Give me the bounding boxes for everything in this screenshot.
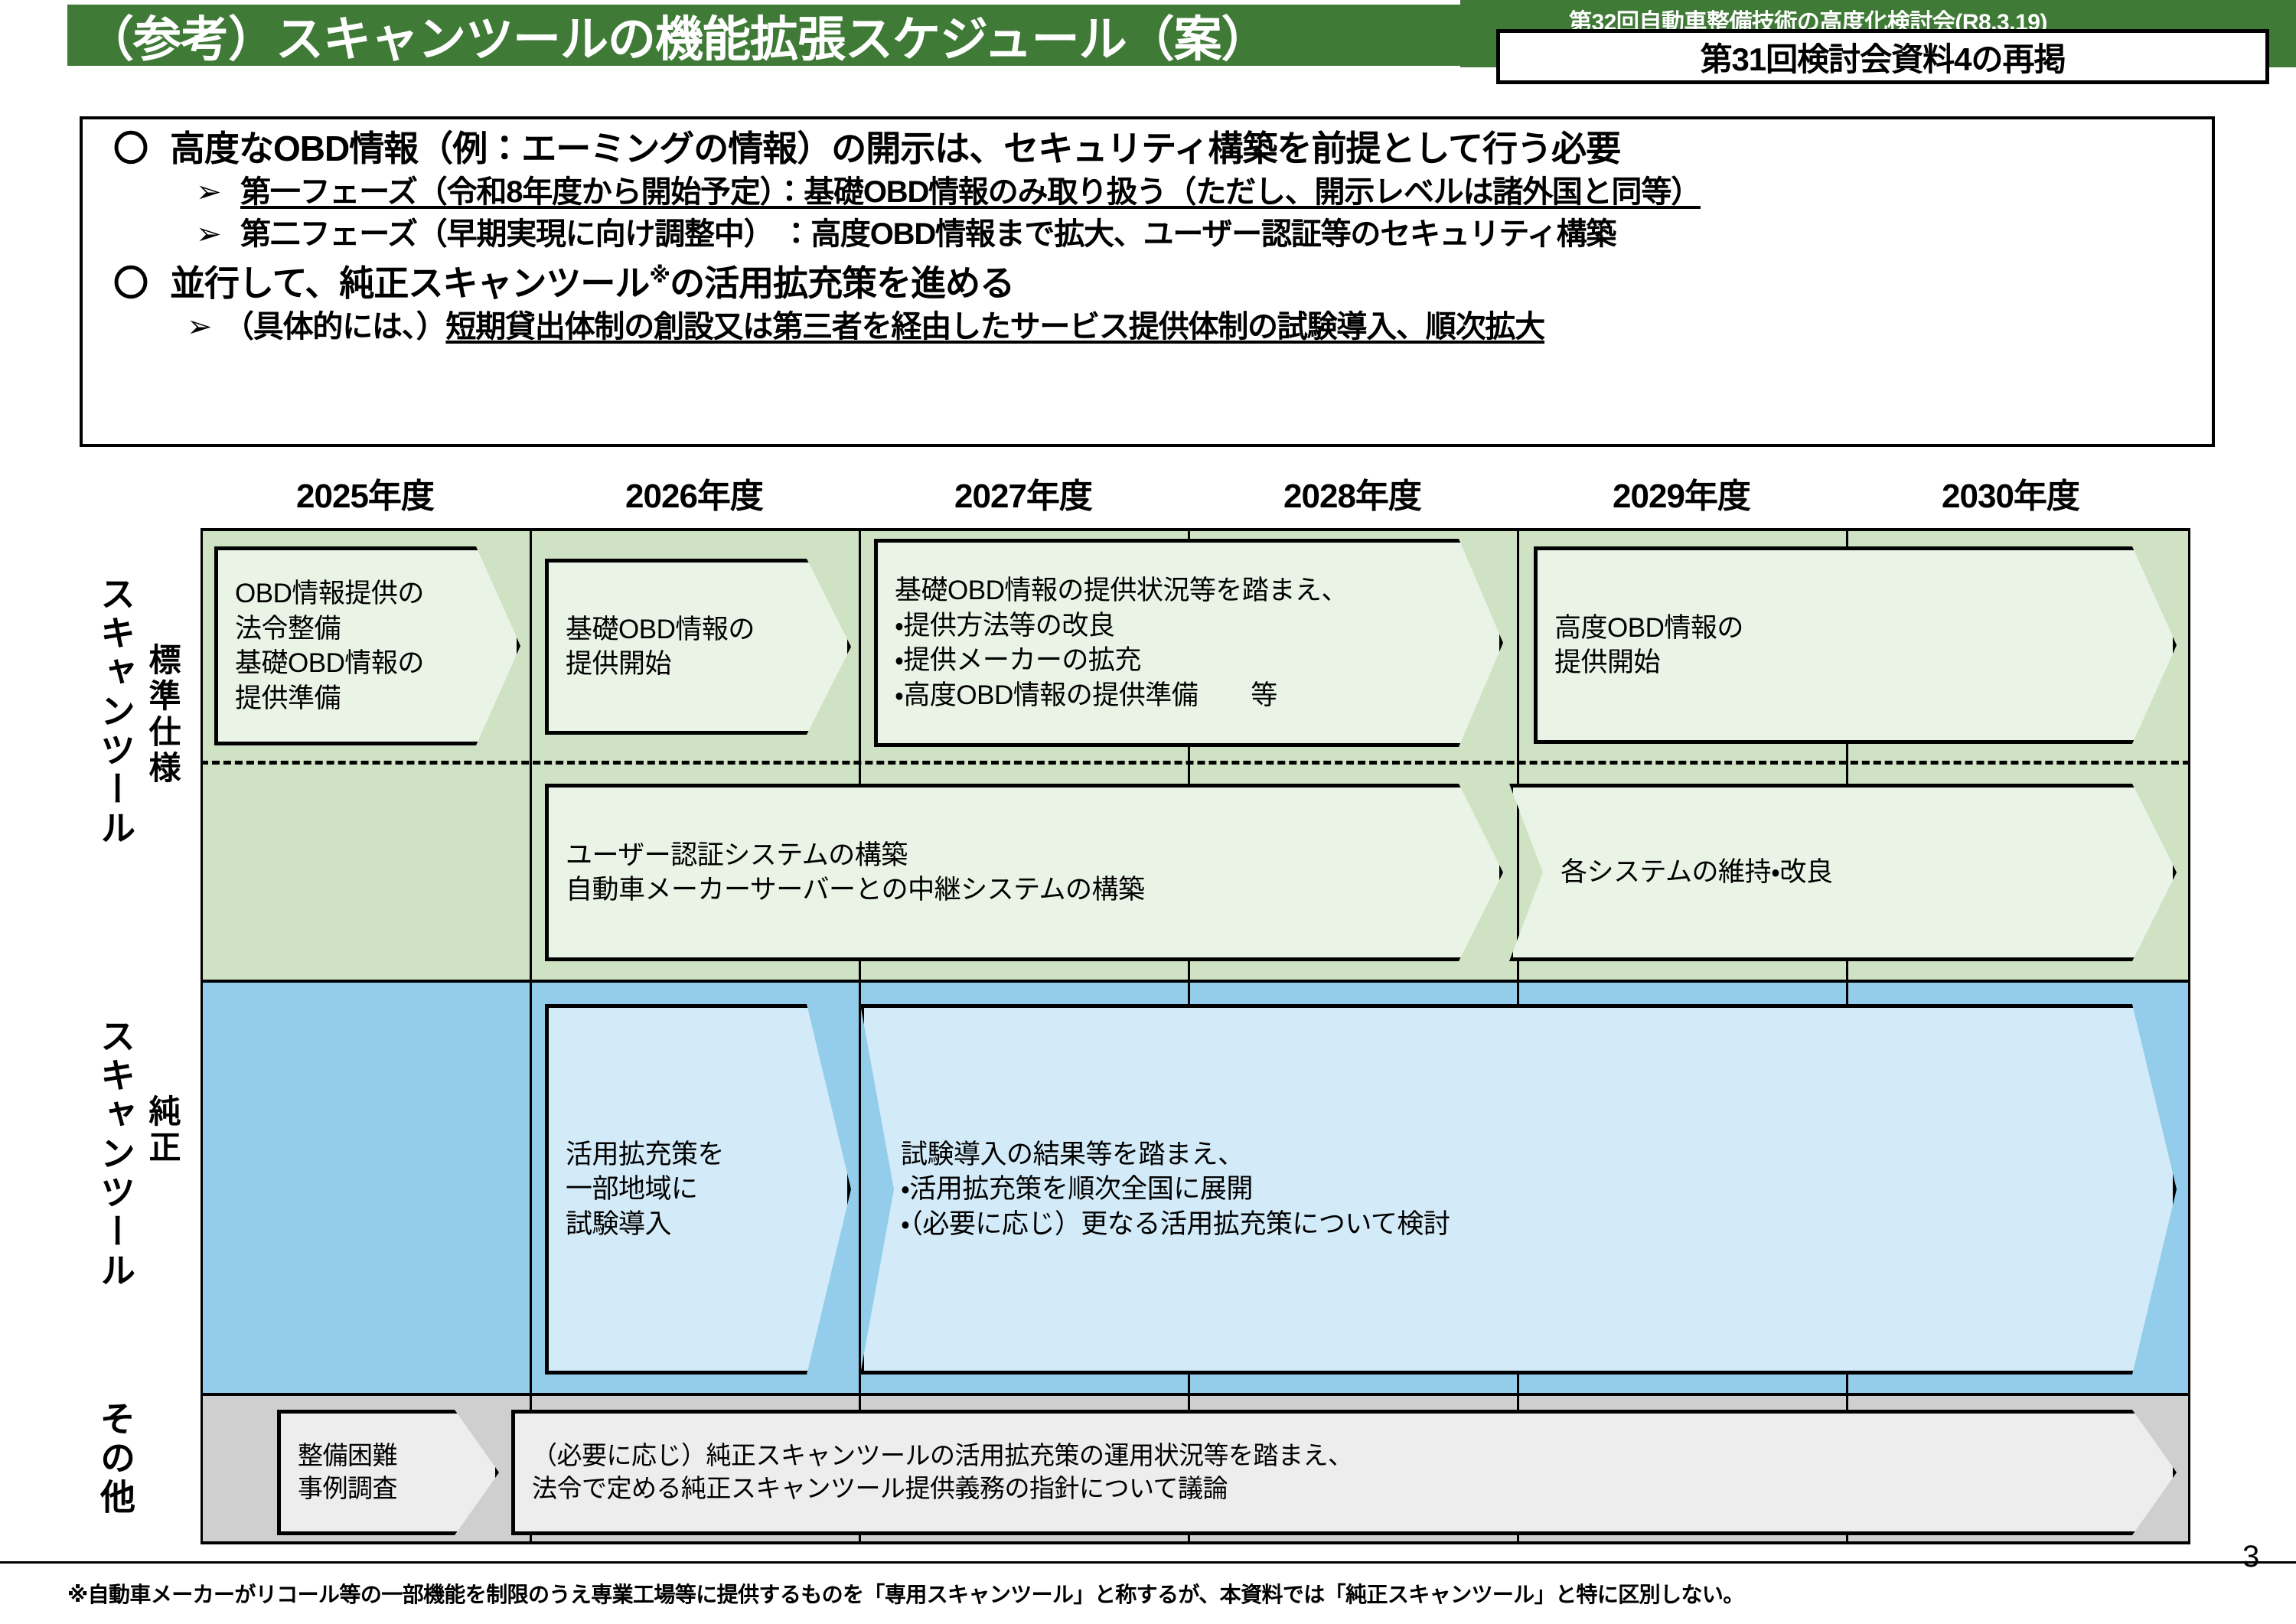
bullet-item-5: ➢ （具体的には、）短期貸出体制の創設又は第三者を経由したサービス提供体制の試験… (83, 308, 2212, 346)
reprint-badge-label: 第31回検討会資料4の再掲 (1700, 34, 2065, 80)
timeline-item-basic-obd-start[interactable]: 基礎OBD情報の 提供開始 (545, 559, 851, 735)
slide-title-bar: （参考）スキャンツールの機能拡張スケジュール（案） (67, 5, 1460, 66)
year-label-2027: 2027年度 (859, 468, 1188, 517)
bullet-marker-circle: 〇 (113, 129, 170, 169)
bullet-text-4-sup: ※ (649, 263, 670, 289)
timeline-item-label: 試験導入の結果等を踏まえ、 ・活用拡充策を順次全国に展開 ・（必要に応じ）更なる… (864, 1137, 1450, 1242)
grid-divider-2027 (859, 528, 861, 1544)
bullet-marker-arrow: ➢ (187, 308, 223, 346)
timeline-item-label: 活用拡充策を 一部地域に 試験導入 (549, 1137, 724, 1242)
summary-bullets-box: 〇 高度なOBD情報（例：エーミングの情報）の開示は、セキュリティ構築を前提とし… (80, 116, 2215, 447)
timeline-item-guideline-discussion[interactable]: （必要に応じ）純正スキャンツールの活用拡充策の運用状況等を踏まえ、 法令で定める… (511, 1410, 2177, 1535)
standard-band-dashed-divider (201, 761, 2190, 765)
row-label-genuine-inner: 純正 (139, 1094, 186, 1166)
timeline-item-label: ユーザー認証システムの構築 自動車メーカーサーバーとの中継システムの構築 (549, 838, 1145, 908)
bullet-text-5-underlined: 短期貸出体制の創設又は第三者を経由したサービス提供体制の試験導入、順次拡大 (445, 308, 1544, 346)
timeline-item-difficult-case-survey[interactable]: 整備困難 事例調査 (277, 1410, 499, 1535)
bullet-marker-arrow: ➢ (196, 174, 240, 211)
timeline-item-label: 高度OBD情報の 提供開始 (1538, 611, 1743, 680)
timeline-item-basic-obd-review[interactable]: 基礎OBD情報の提供状況等を踏まえ、 ・提供方法等の改良 ・提供メーカーの拡充 … (874, 539, 1503, 747)
page-number: 3 (2242, 1540, 2259, 1574)
year-label-2029: 2029年度 (1517, 468, 1846, 517)
row-label-genuine-outer: スキャンツール (90, 1018, 141, 1291)
bullet-text-4-pre: 並行して、純正スキャンツール (170, 263, 649, 304)
year-label-2030: 2030年度 (1846, 468, 2175, 517)
slide-canvas: （参考）スキャンツールの機能拡張スケジュール（案） 第32回自動車整備技術の高度… (0, 0, 2296, 1624)
row-label-other: その他 (90, 1401, 141, 1518)
grid-top-border (201, 528, 2190, 531)
bullet-text-3: 第二フェーズ（早期実現に向け調整中） ：高度OBD情報まで拡大、ユーザー認証等の… (240, 216, 1616, 253)
year-label-2025: 2025年度 (201, 468, 530, 517)
bullet-item-4: 〇 並行して、純正スキャンツール※の活用拡充策を進める (83, 263, 2212, 304)
timeline-item-label: （必要に応じ）純正スキャンツールの活用拡充策の運用状況等を踏まえ、 法令で定める… (515, 1440, 1353, 1505)
bullet-item-2: ➢ 第一フェーズ（令和8年度から開始予定）：基礎OBD情報のみ取り扱う（ただし、… (83, 174, 2212, 211)
bullet-item-3: ➢ 第二フェーズ（早期実現に向け調整中） ：高度OBD情報まで拡大、ユーザー認証… (83, 216, 2212, 253)
grid-divider-2026 (530, 528, 532, 1544)
timeline-item-label: 整備困難 事例調査 (281, 1440, 397, 1505)
row-label-standard-spec: 標準仕様 (139, 643, 186, 787)
timeline-item-obd-law-prep[interactable]: OBD情報提供の 法令整備 基礎OBD情報の 提供準備 (214, 546, 520, 745)
bullet-text-5-plain: （具体的には、） (223, 308, 445, 346)
bullet-text-2: 第一フェーズ（令和8年度から開始予定）：基礎OBD情報のみ取り扱う（ただし、開示… (240, 174, 1701, 211)
grid-right-border (2188, 528, 2190, 1544)
row-label-scantool-outer: スキャンツール (90, 576, 141, 849)
bullet-text-1: 高度なOBD情報（例：エーミングの情報）の開示は、セキュリティ構築を前提として行… (170, 129, 1620, 169)
timeline-item-system-maintenance[interactable]: 各システムの維持・改良 (1509, 784, 2177, 961)
separator-blue-gray (201, 1393, 2190, 1396)
bullet-text-4-post: の活用拡充策を進める (670, 263, 1014, 304)
page-title: （参考）スキャンツールの機能拡張スケジュール（案） (67, 1, 1269, 70)
grid-bottom-border (201, 1541, 2190, 1544)
timeline-item-label: 基礎OBD情報の提供状況等を踏まえ、 ・提供方法等の改良 ・提供メーカーの拡充 … (878, 573, 1348, 713)
bullet-item-1: 〇 高度なOBD情報（例：エーミングの情報）の開示は、セキュリティ構築を前提とし… (83, 129, 2212, 169)
timeline-item-label: 基礎OBD情報の 提供開始 (549, 612, 755, 682)
timeline-item-advanced-obd-start[interactable]: 高度OBD情報の 提供開始 (1534, 546, 2177, 744)
timeline-item-nationwide-rollout[interactable]: 試験導入の結果等を踏まえ、 ・活用拡充策を順次全国に展開 ・（必要に応じ）更なる… (860, 1004, 2177, 1375)
bullet-marker-circle: 〇 (113, 263, 170, 304)
footnote-text: ※自動車メーカーがリコール等の一部機能を制限のうえ専業工場等に提供するものを「専… (67, 1578, 1744, 1609)
year-label-2028: 2028年度 (1188, 468, 1517, 517)
grid-left-border (201, 528, 203, 1544)
reprint-badge: 第31回検討会資料4の再掲 (1496, 29, 2269, 84)
year-label-2026: 2026年度 (530, 468, 859, 517)
timeline-item-label: 各システムの維持・改良 (1513, 855, 1832, 890)
timeline-item-pilot-intro[interactable]: 活用拡充策を 一部地域に 試験導入 (545, 1004, 851, 1375)
bullet-marker-arrow: ➢ (196, 216, 240, 253)
timeline-item-label: OBD情報提供の 法令整備 基礎OBD情報の 提供準備 (218, 576, 424, 716)
timeline-year-header: 2025年度 2026年度 2027年度 2028年度 2029年度 2030年… (201, 468, 2296, 513)
footer-divider (0, 1561, 2296, 1564)
timeline-item-auth-system-build[interactable]: ユーザー認証システムの構築 自動車メーカーサーバーとの中継システムの構築 (545, 784, 1503, 961)
separator-green-blue (201, 980, 2190, 983)
